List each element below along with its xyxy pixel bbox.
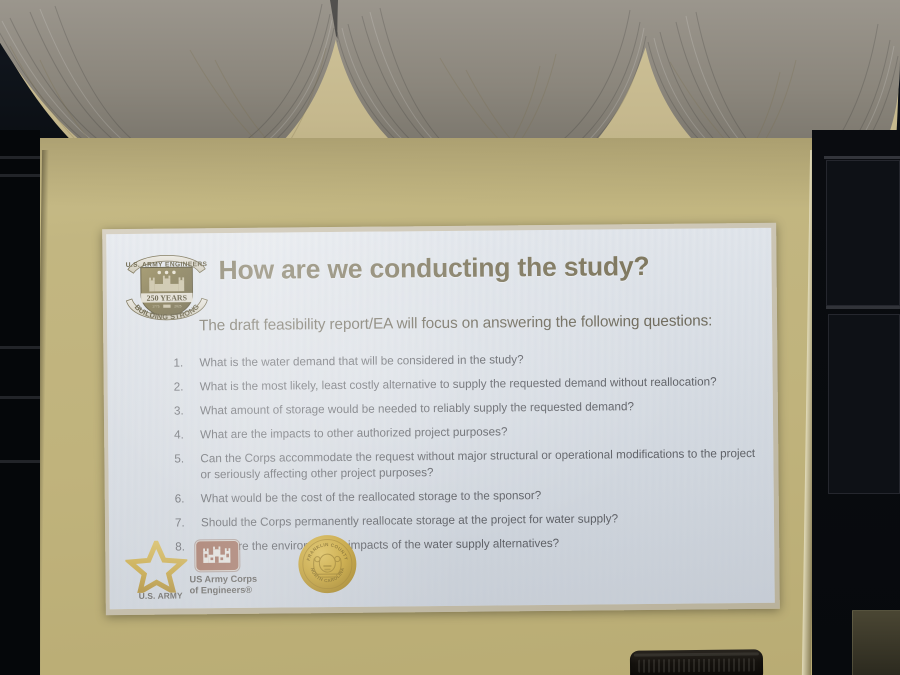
slide-content: U.S. ARMY ENGINEERS [106,228,775,609]
usace-label: US Army Corps of Engineers® [189,573,287,595]
usace-castle-icon [195,540,239,571]
list-item-text: What are the impacts to other authorized… [200,422,759,443]
list-item-number: 6. [175,491,201,507]
list-item-text: What amount of storage would be needed t… [200,398,759,419]
svg-text:250 YEARS: 250 YEARS [147,293,188,302]
list-item-number: 2. [174,379,200,395]
list-item-text: Should the Corps permanently reallocate … [201,510,760,531]
wall-band [0,346,40,349]
wall-band [0,174,40,177]
list-item-number: 1. [173,355,199,371]
dark-area-left [0,130,40,675]
photo-scene: U.S. ARMY ENGINEERS [0,0,900,675]
list-item-text: What is the water demand that will be co… [199,350,758,371]
list-item-number: 3. [174,403,200,419]
questions-list: 1. What is the water demand that will be… [173,350,760,564]
us-army-label: U.S. ARMY [126,590,196,601]
list-item: 5. Can the Corps accommodate the request… [174,446,759,483]
list-item-number: 4. [174,428,200,444]
usace-logo: US Army Corps of Engineers® [189,540,286,603]
county-seal-icon: FRANKLIN COUNTY NORTH CAROLINA [297,534,358,595]
list-item: 4. What are the impacts to other authori… [174,422,759,443]
projection-screen: U.S. ARMY ENGINEERS [102,223,780,615]
gold-star-icon [125,540,187,593]
list-item-text: What is the most likely, least costly al… [200,374,759,395]
usace-label-line2: of Engineers® [190,584,288,596]
list-item-number: 7. [175,515,201,531]
wall-band [0,156,40,159]
wall-band [0,460,40,463]
footer-logos: U.S. ARMY [121,532,452,605]
list-item: 6. What would be the cost of the realloc… [175,486,760,507]
window-pane [828,314,900,494]
list-item-number: 5. [174,452,200,483]
ceiling-projector-unit [630,649,763,675]
slide-subtitle: The draft feasibility report/EA will foc… [199,312,764,335]
dark-area-right [812,130,900,675]
list-item: 2. What is the most likely, least costly… [174,374,759,395]
window-sill [826,306,900,309]
wall-band [0,396,40,399]
svg-text:2025: 2025 [174,304,182,308]
window-pane [826,160,900,306]
wall-shading [31,138,822,208]
list-item: 7. Should the Corps permanently realloca… [175,510,760,531]
list-item: 3. What amount of storage would be neede… [174,398,759,419]
window-head [824,156,900,159]
list-item-text: Can the Corps accommodate the request wi… [200,446,759,482]
slide-title: How are we conducting the study? [218,250,753,286]
list-item-text: What would be the cost of the reallocate… [201,486,760,507]
svg-text:1775: 1775 [152,304,160,308]
list-item: 1. What is the water demand that will be… [173,350,758,371]
screen-surface: U.S. ARMY ENGINEERS [106,228,775,609]
us-army-logo: U.S. ARMY [125,540,188,603]
right-furniture [852,610,900,675]
